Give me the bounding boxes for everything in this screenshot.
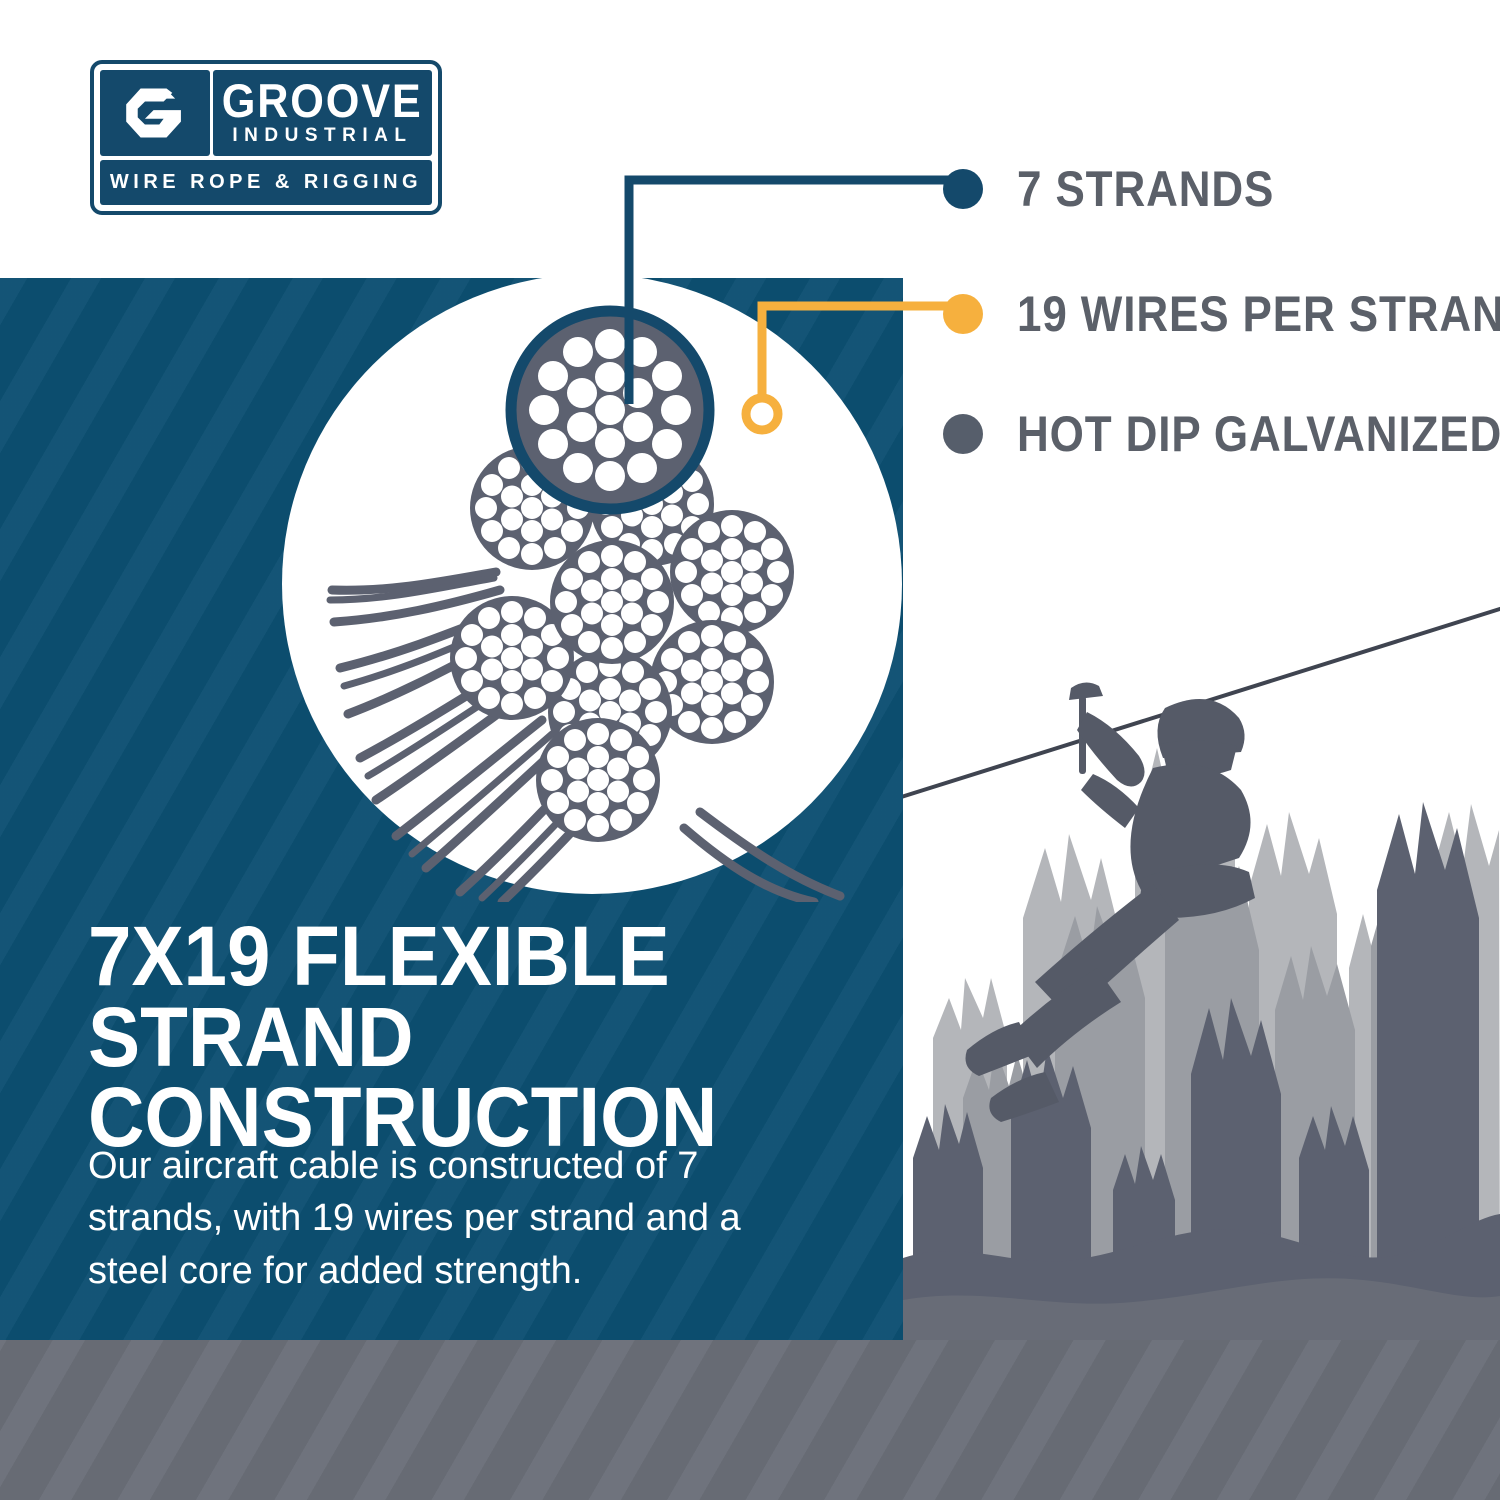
brand-logo: GROOVE INDUSTRIAL WIRE ROPE & RIGGING <box>90 60 442 215</box>
callout-label-strands: 7 STRANDS <box>1017 160 1274 218</box>
page-title: 7X19 FLEXIBLE STRAND CONSTRUCTION <box>88 916 823 1158</box>
ground-diagonal-stripes <box>0 1340 1500 1500</box>
callout-dot-strands <box>943 169 983 209</box>
brand-name: GROOVE <box>222 79 423 122</box>
infographic-canvas: GROOVE INDUSTRIAL WIRE ROPE & RIGGING <box>0 0 1500 1500</box>
brand-tagline: WIRE ROPE & RIGGING <box>110 171 422 194</box>
headline-line-2: STRAND CONSTRUCTION <box>88 997 823 1158</box>
headline-line-1: 7X19 FLEXIBLE <box>88 916 823 997</box>
logo-wordmark: GROOVE INDUSTRIAL <box>213 70 432 156</box>
callout-wires-per-strand[interactable]: 19 WIRES PER STRAND <box>943 285 1500 343</box>
brand-subname: INDUSTRIAL <box>232 124 412 148</box>
bottom-ground-band <box>0 1340 1500 1500</box>
wire-rope-cross-section-icon <box>280 272 910 902</box>
callout-dot-wires <box>943 294 983 334</box>
callout-strands[interactable]: 7 STRANDS <box>943 160 1309 218</box>
callout-label-galvanized: HOT DIP GALVANIZED <box>1017 405 1500 463</box>
body-description: Our aircraft cable is constructed of 7 s… <box>88 1140 788 1297</box>
callout-label-wires: 19 WIRES PER STRAND <box>1017 285 1500 343</box>
groove-g-hexagon-icon <box>100 70 210 156</box>
callout-dot-galvanized <box>943 414 983 454</box>
callout-hot-dip-galvanized[interactable]: HOT DIP GALVANIZED <box>943 405 1500 463</box>
logo-top-row: GROOVE INDUSTRIAL <box>100 70 432 156</box>
logo-tagline-bar: WIRE ROPE & RIGGING <box>100 160 432 205</box>
